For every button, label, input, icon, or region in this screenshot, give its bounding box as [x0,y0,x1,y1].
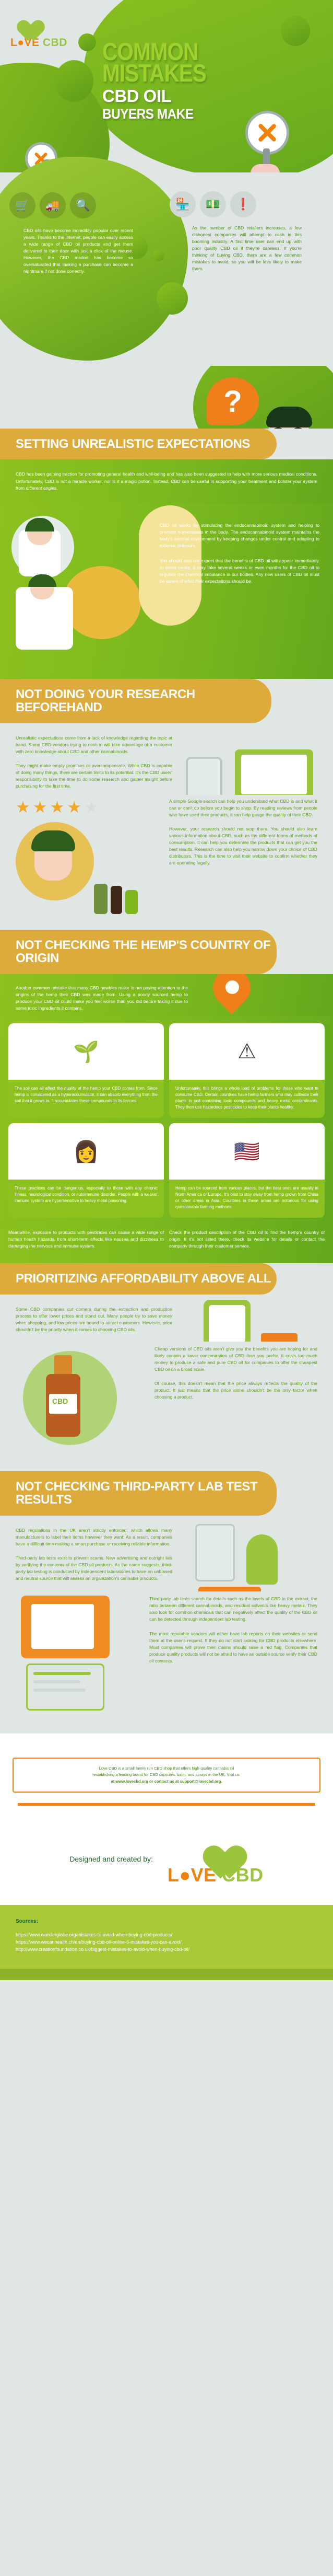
origin-card: 🇺🇸 Hemp can be sourced from various plac… [169,1123,325,1218]
footer-logo-love-l: L [168,1864,180,1886]
star-icon: ★ [16,798,30,817]
sources-section: Sources: https://www.wanderglobe.org/mis… [0,1905,333,1969]
section-heading-3: NOT CHECKING THE HEMP'S COUNTRY OF ORIGI… [0,930,277,974]
orange-divider [18,1803,315,1806]
hand-icon [251,164,280,172]
logo-cbd: CBD [43,37,67,49]
section-1-lower: CBD oil works by stimulating the endocan… [0,503,333,679]
designed-by-label: Designed and created by: [69,1855,153,1863]
star-rating: ★ ★ ★ ★ ★ [16,798,162,817]
section-not-doing-your-research: NOT DOING YOUR RESEARCH BEFOREHAND Unrea… [0,679,333,930]
section-1-paragraph-2: CBD oil works by stimulating the endocan… [160,522,319,549]
logo-drop-icon: ● [17,37,24,49]
section-5-paragraph-2: Third-party lab tests exist to prevent s… [16,1555,172,1582]
designed-by-section: Designed and created by: L●VE CBD [0,1811,333,1905]
sources-label: Sources: [16,1919,317,1924]
warning-toxic-icon: ⚠ [169,1023,325,1080]
origin-footnote-1: Meanwhile, exposure to products with pes… [8,1229,164,1250]
delivery-truck-icon: 🚚 [40,192,66,218]
reviews-illustration: ★ ★ ★ ★ ★ [16,798,162,916]
section-5-paragraph-1: CBD regulations in the UK aren't strictl… [16,1527,172,1547]
logo-text: L●VE CBD [10,37,68,49]
decor-dot [55,60,93,102]
section-5-paragraph-3: Third-party lab tests search for details… [149,1596,317,1623]
section-2-body-bottom: ★ ★ ★ ★ ★ A s [0,795,333,930]
intro-section: 🛒 🚚 🔍 🏪 💵 ❗ CBD oils have become incredi… [0,172,333,366]
section-heading-2: NOT DOING YOUR RESEARCH BEFOREHAND [0,679,271,723]
origin-card-text: Hemp can be sourced from various places,… [169,1180,325,1218]
intro-right-text: As the number of CBD retailers increases… [192,225,302,272]
section-setting-unrealistic-expectations: ? SETTING UNREALISTIC EXPECTATIONS CBD h… [0,366,333,679]
section-heading-4: PRIORITIZING AFFORDABILITY ABOVE ALL [0,1263,277,1294]
source-url[interactable]: http://www.creationfoundation.co.uk/bigg… [16,1946,317,1954]
search-magnifier-icon: 🔍 [70,192,96,218]
cta-line-2: establishing a leading brand for CBD cap… [22,1772,311,1778]
section-2-paragraph-2: They might make empty promises or overco… [16,763,172,790]
infographic-page: L●VE CBD COMMON MISTAKES CBD OIL BUYERS … [0,0,333,1980]
section-4-paragraph-3: Of course, this doesn't mean that the pr… [154,1380,317,1401]
origin-card-text: The soil can all affect the quality of t… [8,1080,164,1112]
origin-card-text: Unfortunately, this brings a whole load … [169,1080,325,1118]
cta-wrapper: Love CBD is a small family run CBD shop … [0,1734,333,1810]
decor-dot [153,250,164,261]
cta-box: Love CBD is a small family run CBD shop … [13,1758,320,1792]
section-1-body: CBD has been gaining traction for promot… [0,459,333,503]
origin-footnote-2: Check the product description of the CBD… [169,1229,325,1250]
section-5-body-top: CBD regulations in the UK aren't strictl… [0,1516,333,1591]
sources-footer-bar [0,1969,333,1980]
heart-icon [195,1832,236,1866]
title-line-3: CBD OIL [102,86,259,106]
section-1-paragraph-1: CBD has been gaining traction for promot… [16,471,317,491]
star-icon: ★ [67,798,81,817]
section-prioritizing-affordability: PRIORITIZING AFFORDABILITY ABOVE ALL Som… [0,1263,333,1471]
lab-report-illustration [16,1596,141,1716]
title-line-4: BUYERS MAKE [102,106,243,122]
section-4-body-top: Some CBD companies cut corners during th… [0,1295,333,1342]
source-url[interactable]: https://www.wecanhealth.ch/en/buying-cbd… [16,1939,317,1946]
section-country-of-origin: NOT CHECKING THE HEMP'S COUNTRY OF ORIGI… [0,930,333,1263]
cta-line-3[interactable]: at www.lovecbd.org or contact us at supp… [22,1778,311,1785]
title-line-2: MISTAKES [102,62,237,84]
woman-sick-icon: 👩 [8,1123,164,1180]
x-icon [256,121,279,144]
cash-hand-icon: 💵 [200,191,226,217]
bearded-man-illustration [261,397,324,429]
intro-left-icons: 🛒 🚚 🔍 [9,192,96,218]
star-icon: ★ [50,798,65,817]
scientists-illustration [0,509,157,665]
section-3-intro: Another common mistake that many CBD new… [0,974,333,1016]
section-4-body-bottom: CBD Cheap versions of CBD oils aren't gi… [0,1342,333,1471]
origin-card: 🌱 The soil can all affect the quality of… [8,1023,164,1118]
origin-card-text: These practices can be dangerous, especi… [8,1180,164,1211]
section-5-paragraph-4: The most reputable vendors will either h… [149,1631,317,1665]
intro-left-text: CBD oils have become incredibly popular … [23,227,133,275]
question-bubble: ? [207,377,259,425]
star-icon: ★ [84,798,99,817]
origin-card: ⚠ Unfortunately, this brings a whole loa… [169,1023,325,1118]
logo-love-l: L [10,37,17,49]
section-3-intro-text: Another common mistake that many CBD new… [16,985,188,1012]
section-heading-5: NOT CHECKING THIRD-PARTY LAB TEST RESULT… [0,1471,277,1516]
usa-flag-icon: 🇺🇸 [169,1123,325,1180]
section-1-paragraph-3: You should also not expect that the bene… [160,558,319,585]
intro-right-icons: 🏪 💵 ❗ [170,191,256,217]
soil-test-icon: 🌱 [8,1023,164,1080]
hand-holding-magnifier-right [219,152,333,172]
section-2-paragraph-1: Unrealistic expectations come from a lac… [16,735,172,755]
footer-logo[interactable]: L●VE CBD [168,1832,264,1886]
section-heading-1: SETTING UNREALISTIC EXPECTATIONS [0,429,277,459]
heart-icon [13,11,38,33]
decor-dot [281,16,310,46]
section-4-paragraph-1: Some CBD companies cut corners during th… [16,1306,172,1333]
section-third-party-lab-tests: NOT CHECKING THIRD-PARTY LAB TEST RESULT… [0,1471,333,1734]
page-title: COMMON MISTAKES CBD OIL BUYERS MAKE [102,41,259,122]
logo[interactable]: L●VE CBD [10,11,68,49]
section-2-body-top: Unrealistic expectations come from a lac… [0,723,333,795]
star-icon: ★ [33,798,47,817]
location-pin-icon [209,969,256,1032]
origin-card: 👩 These practices can be dangerous, espe… [8,1123,164,1218]
footer-logo-drop-icon: ● [179,1864,191,1886]
section-2-paragraph-4: However, your research should not stop t… [169,826,317,867]
shopping-cart-icon: 🛒 [9,192,35,218]
section-2-paragraph-3: A simple Google search can help you unde… [169,798,317,818]
cta-line-1: Love CBD is a small family run CBD shop … [22,1765,311,1772]
origin-card-grid: 🌱 The soil can all affect the quality of… [0,1016,333,1229]
section-5-body-bottom: Third-party lab tests search for details… [0,1591,333,1734]
decor-dot [78,33,96,51]
header: L●VE CBD COMMON MISTAKES CBD OIL BUYERS … [0,0,333,172]
market-stall-icon: 🏪 [170,191,196,217]
exclamation-icon: ❗ [230,191,256,217]
origin-footnotes: Meanwhile, exposure to products with pes… [0,1229,333,1263]
section-4-paragraph-2: Cheap versions of CBD oils aren't give y… [154,1346,317,1373]
decor-dot [157,282,188,315]
source-url[interactable]: https://www.wanderglobe.org/mistakes-to-… [16,1932,317,1939]
cbd-bottle-illustration: CBD [16,1346,146,1456]
